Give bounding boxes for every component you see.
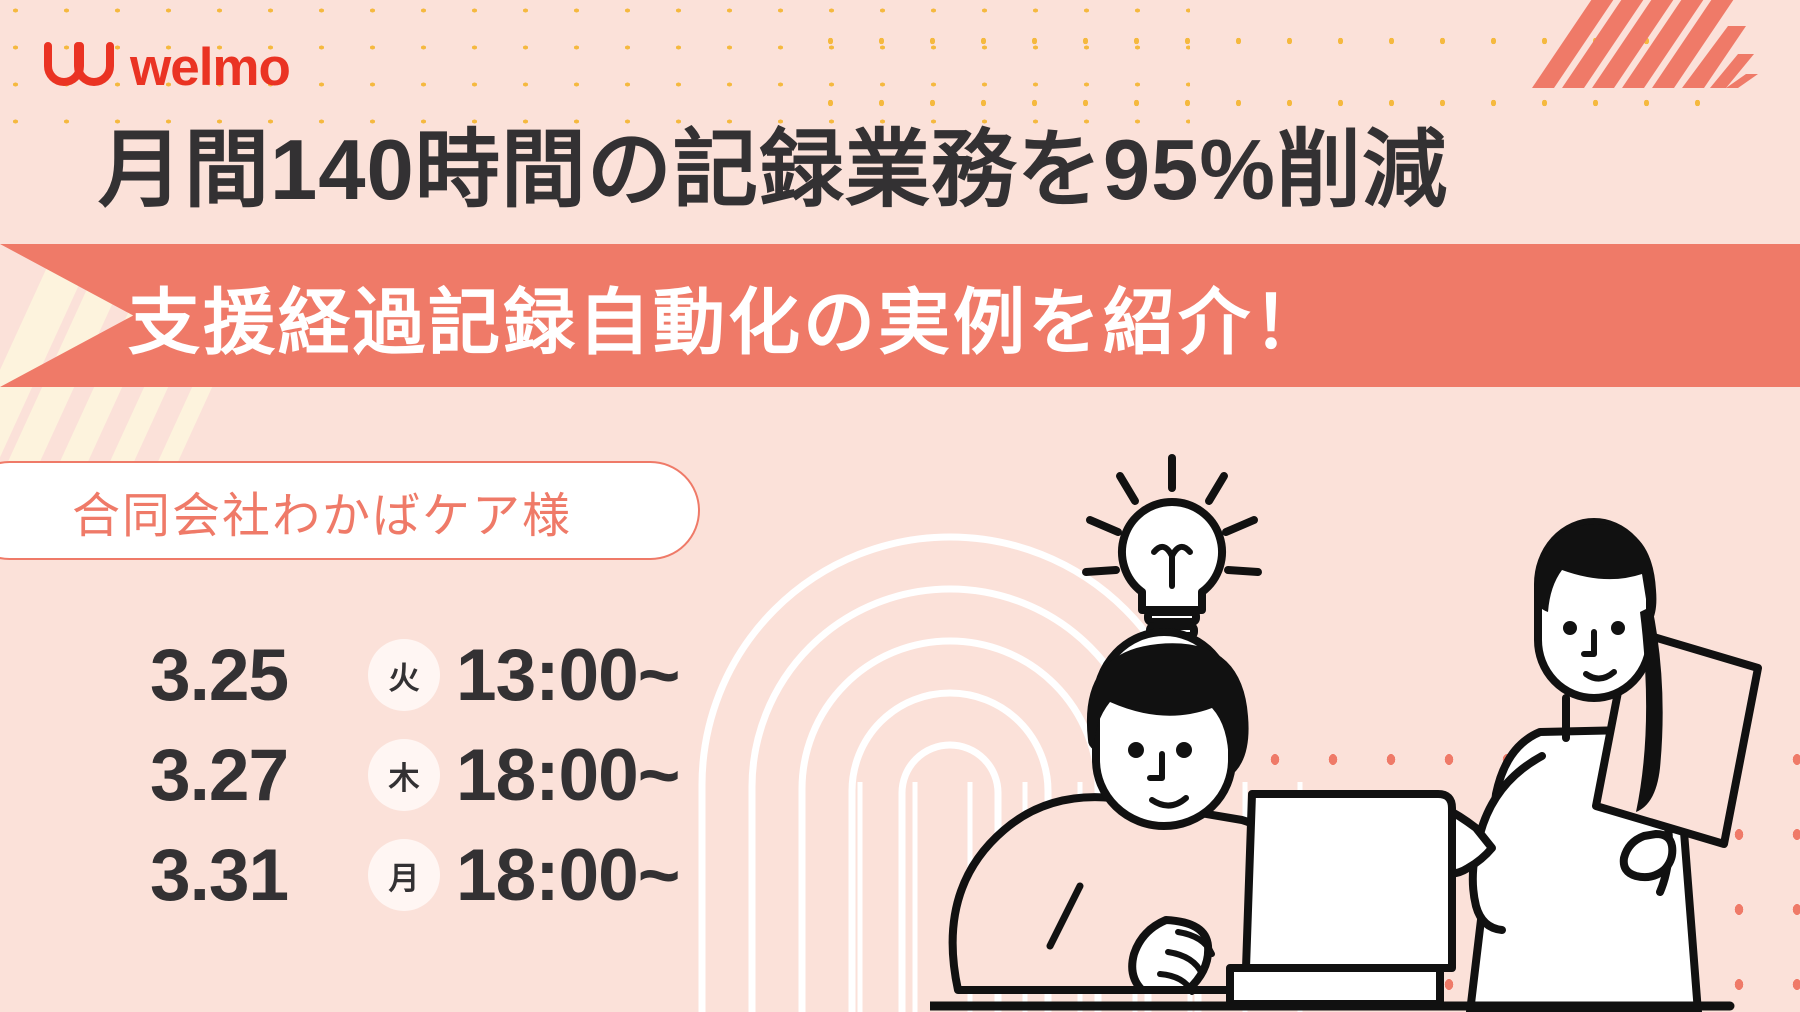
welmo-wordmark: welmo	[130, 41, 290, 94]
schedule-date: 3.31	[150, 839, 366, 912]
welmo-w-icon	[42, 40, 116, 94]
schedule-date: 3.27	[150, 739, 366, 812]
person-presenting-illustration	[1400, 522, 1758, 1012]
lightbulb-icon	[1086, 458, 1258, 652]
schedule-date: 3.25	[150, 639, 366, 712]
dot-pattern-bottom-right	[1240, 712, 1800, 1012]
schedule-day-of-week-badge: 火	[368, 639, 440, 711]
schedule-row: 3.25 火 13:00~	[150, 625, 679, 725]
person-at-laptop-illustration	[953, 632, 1452, 1004]
welmo-logo[interactable]: welmo	[42, 40, 290, 94]
schedule-day-of-week-badge: 月	[368, 839, 440, 911]
schedule-row: 3.31 月 18:00~	[150, 825, 679, 925]
client-name-pill: 合同会社わかばケア様	[0, 461, 700, 560]
people-illustration	[930, 380, 1800, 1012]
client-name-label: 合同会社わかばケア様	[72, 476, 572, 546]
diagonal-stripes-top-right	[1532, 0, 1782, 88]
schedule-time: 18:00~	[456, 739, 679, 812]
ribbon-banner: 支援経過記録自動化の実例を紹介！	[0, 244, 1800, 387]
schedule-time: 18:00~	[456, 839, 679, 912]
schedule-time: 13:00~	[456, 639, 679, 712]
concentric-arches-decor	[690, 525, 1210, 1012]
schedule-list: 3.25 火 13:00~ 3.27 木 18:00~ 3.31 月 18:00…	[150, 625, 679, 925]
schedule-day-of-week-badge: 木	[368, 739, 440, 811]
page-title: 月間140時間の記録業務を95%削減	[98, 126, 1448, 215]
tablet-icon	[1596, 630, 1758, 844]
ribbon-subtitle: 支援経過記録自動化の実例を紹介！	[128, 263, 1328, 368]
vertical-lines-decor	[840, 782, 1800, 1012]
webinar-promo-banner: welmo 月間140時間の記録業務を95%削減 支援経過記録自動化の実例を紹介…	[0, 0, 1800, 1012]
schedule-row: 3.27 木 18:00~	[150, 725, 679, 825]
